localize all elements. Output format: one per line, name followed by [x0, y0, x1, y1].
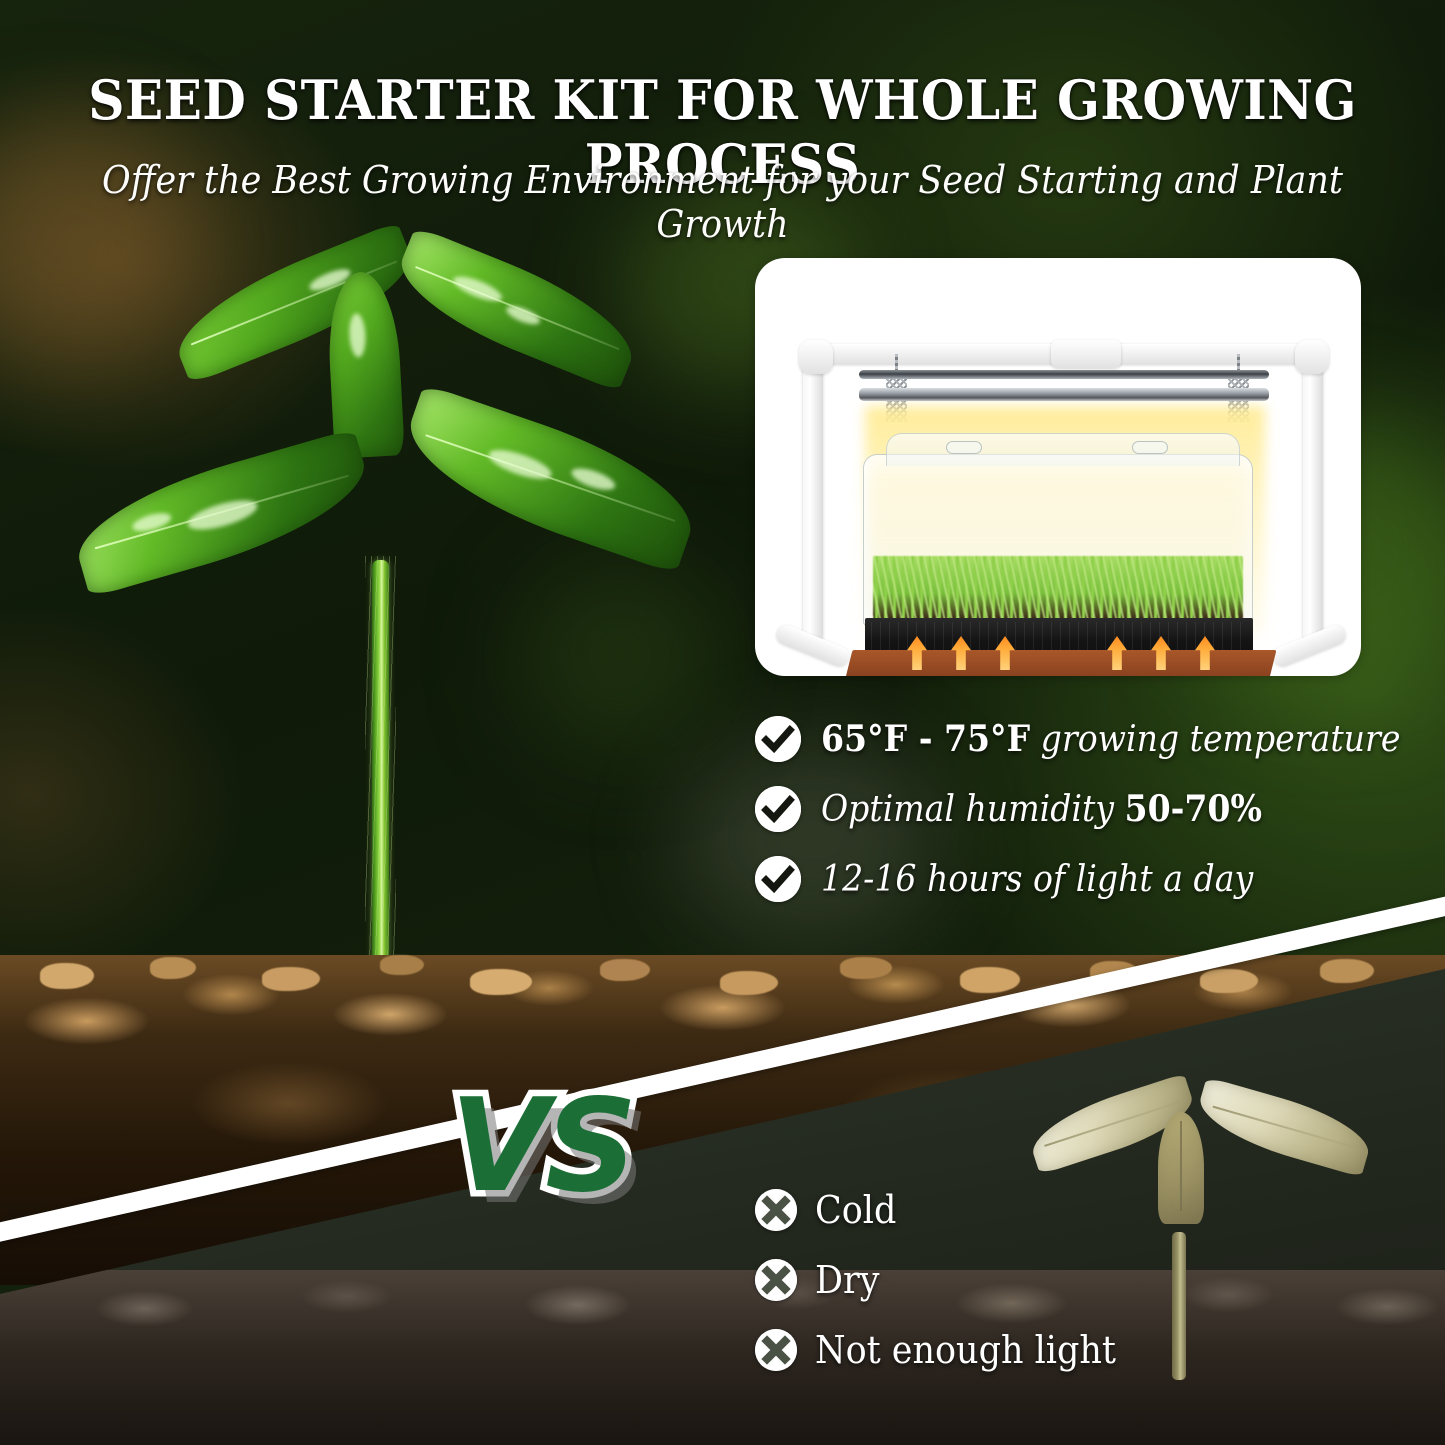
soil-crumb	[600, 959, 650, 981]
check-icon	[755, 716, 801, 762]
feature-value: 65°F - 75°F	[821, 718, 1030, 760]
tray-seedlings	[873, 556, 1243, 624]
leaf-highlight	[504, 302, 542, 328]
leaf-highlight	[348, 313, 366, 358]
soil-crumb	[470, 969, 532, 995]
feature-text: 12-16 hours of light a day	[821, 859, 1253, 900]
leaf-center	[325, 270, 405, 458]
feature-value: 50-70%	[1125, 788, 1262, 830]
soil-crumb	[1320, 959, 1374, 983]
feature-text: growing temperature	[1030, 719, 1400, 760]
negative-row: Cold	[755, 1188, 1205, 1232]
vs-badge: VS	[450, 1072, 633, 1221]
feature-row: 12-16 hours of light a day	[755, 856, 1415, 902]
led-grow-light-bar-lower	[859, 388, 1269, 401]
leaf-highlight	[486, 445, 555, 485]
feature-list: 65°F - 75°F growing temperature Optimal …	[755, 716, 1415, 926]
cross-icon	[755, 1189, 797, 1231]
feature-label: Optimal humidity 50-70%	[821, 788, 1262, 830]
soil-crumb	[40, 963, 94, 989]
soil-crumb	[960, 967, 1020, 993]
product-infographic: SEED STARTER KIT FOR WHOLE GROWING PROCE…	[0, 0, 1445, 1445]
led-grow-light-bar-upper	[859, 370, 1269, 379]
leaf-highlight	[451, 271, 505, 305]
healthy-seedling-photo	[0, 230, 760, 1020]
soil-crumb	[1200, 969, 1258, 993]
dome-vent-right	[1132, 441, 1168, 454]
leaf-upper-right	[386, 226, 647, 392]
pvc-frame-corner-right	[1295, 340, 1329, 374]
dry-soil-band	[0, 1270, 1445, 1445]
negative-label: Dry	[815, 1258, 880, 1302]
check-icon	[755, 786, 801, 832]
negative-label: Not enough light	[815, 1328, 1116, 1372]
negative-list: Cold Dry Not enough light	[755, 1188, 1205, 1398]
pvc-frame-right-post	[1303, 344, 1323, 644]
negative-row: Dry	[755, 1258, 1205, 1302]
dome-vent-left	[946, 441, 982, 454]
pvc-frame-left-post	[803, 344, 823, 644]
soil-crumb	[150, 957, 196, 979]
negative-label: Cold	[815, 1188, 896, 1232]
feature-label: 65°F - 75°F growing temperature	[821, 718, 1400, 760]
soil-crumb	[840, 957, 892, 979]
leaf-highlight	[185, 494, 260, 535]
soil-crumb	[262, 967, 320, 991]
seedling-heat-mat	[842, 650, 1277, 676]
leaf-mid-right	[392, 384, 708, 574]
feature-row: 65°F - 75°F growing temperature	[755, 716, 1415, 762]
leaf-mid-left	[65, 428, 378, 597]
page-subtitle: Offer the Best Growing Environment for y…	[58, 158, 1387, 246]
cross-icon	[755, 1259, 797, 1301]
cross-icon	[755, 1329, 797, 1371]
pvc-frame-corner-left	[799, 340, 833, 374]
feature-label: 12-16 hours of light a day	[821, 859, 1253, 900]
product-photo-inset	[755, 258, 1361, 676]
pvc-frame-top-joint	[1051, 340, 1121, 368]
soil-crumb	[380, 955, 424, 975]
feature-text: Optimal humidity	[821, 789, 1125, 830]
check-icon	[755, 856, 801, 902]
feature-row: Optimal humidity 50-70%	[755, 786, 1415, 832]
negative-row: Not enough light	[755, 1328, 1205, 1372]
soil-crumb	[720, 971, 778, 995]
leaf-vein	[425, 434, 675, 522]
leaf-highlight	[569, 464, 618, 494]
